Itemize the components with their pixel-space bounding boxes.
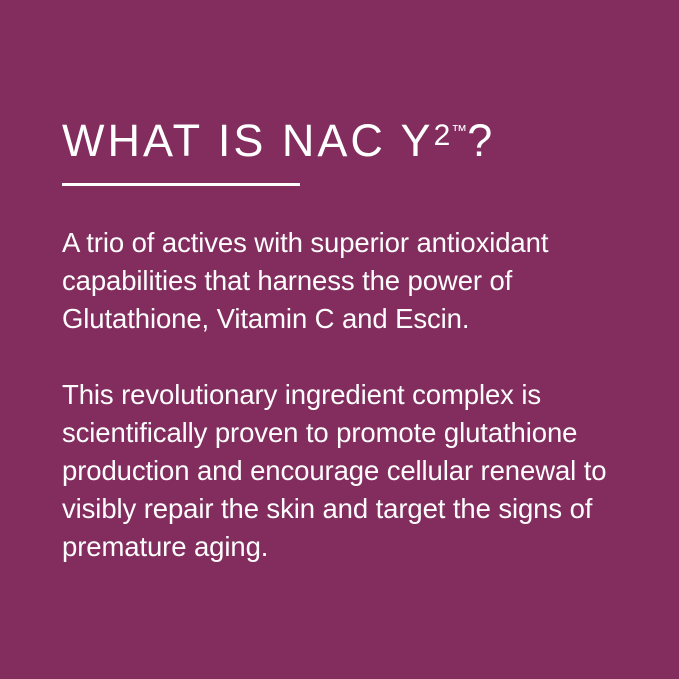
trademark-icon: ™ xyxy=(451,123,467,140)
info-panel: WHAT IS NAC Y2™? A trio of actives with … xyxy=(0,0,679,679)
page-title-main: WHAT IS NAC Y xyxy=(62,115,434,166)
body-paragraph-2: This revolutionary ingredient complex is… xyxy=(62,376,642,566)
page-title: WHAT IS NAC Y2™? xyxy=(62,118,649,163)
content-block: WHAT IS NAC Y2™? A trio of actives with … xyxy=(62,118,649,566)
body-copy: A trio of actives with superior antioxid… xyxy=(62,224,649,566)
page-title-question-mark: ? xyxy=(467,115,492,166)
body-paragraph-1: A trio of actives with superior antioxid… xyxy=(62,224,642,338)
title-underline-rule xyxy=(62,183,300,186)
page-title-superscript-number: 2 xyxy=(434,119,452,152)
